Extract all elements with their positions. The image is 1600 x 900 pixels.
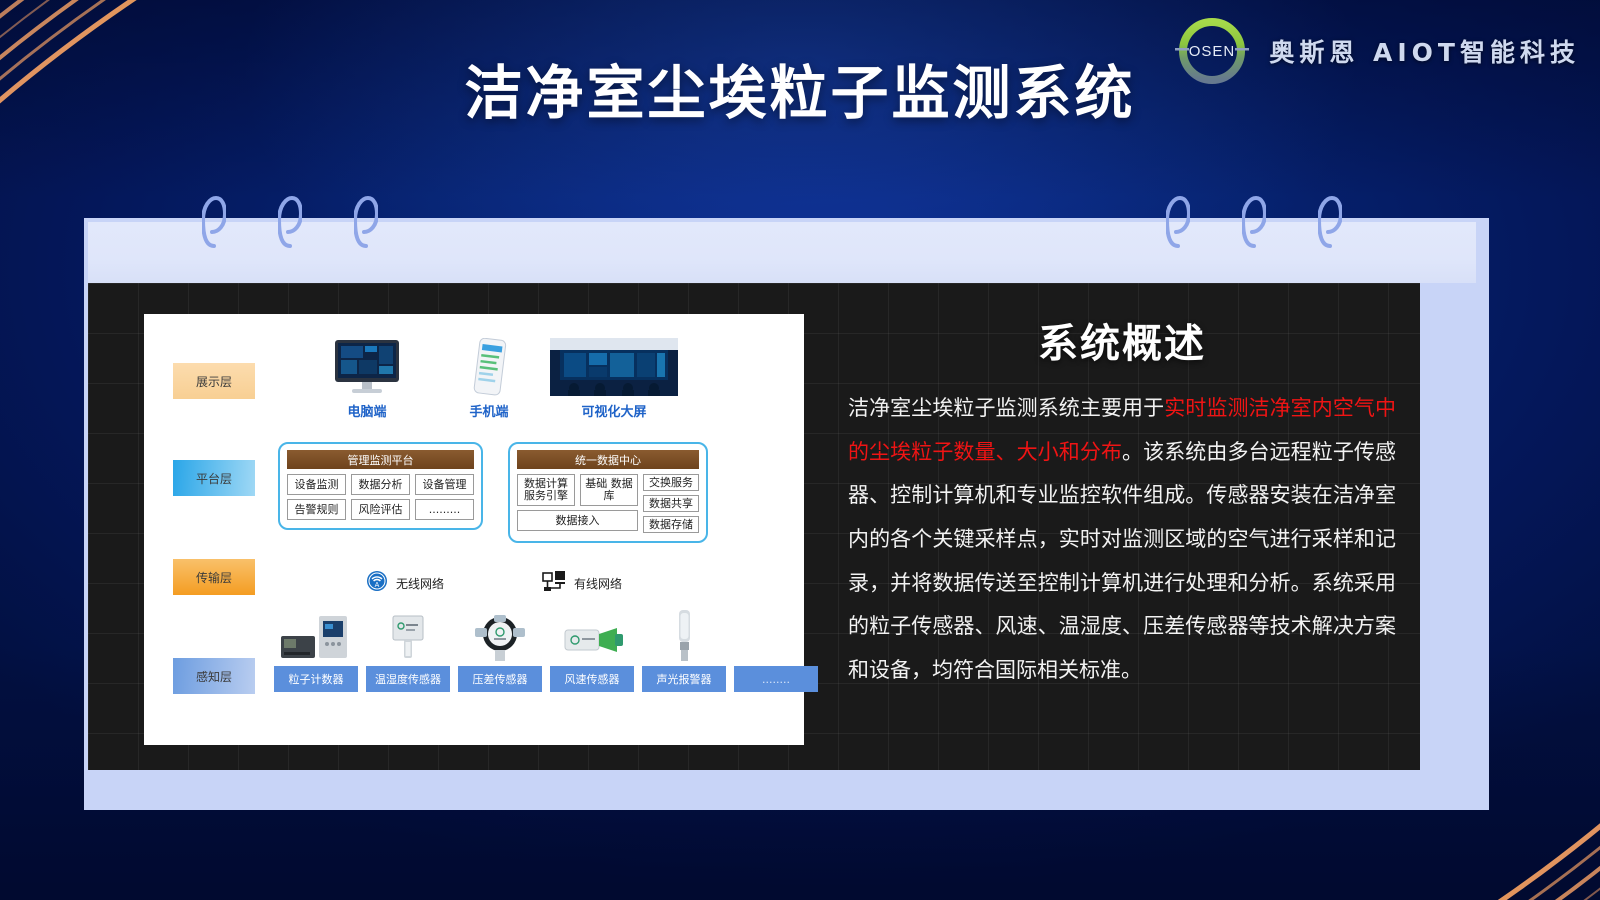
spiral-ring: [1242, 196, 1266, 248]
platform-cell[interactable]: 数据分析: [351, 474, 410, 495]
sensor-label[interactable]: 压差传感器: [458, 666, 542, 692]
sensor-column: 风速传感器: [550, 606, 634, 692]
display-item-label: 可视化大屏: [544, 401, 684, 420]
sensor-label[interactable]: 温湿度传感器: [366, 666, 450, 692]
platform-card-management: 管理监测平台 设备监测 数据分析 设备管理 告警规则 风险评估 ........…: [278, 442, 483, 530]
sensor-label[interactable]: 声光报警器: [642, 666, 726, 692]
temp-humidity-sensor-icon: [366, 606, 450, 662]
platform-card-data-center: 统一数据中心 数据计算 服务引擎 基础 数据库 数据接入 交换服务 数据共享 数…: [508, 442, 708, 543]
transport-item-wired: 有线网络: [542, 570, 622, 597]
logo-wordmark: OSEN: [1189, 43, 1236, 60]
transport-item-wireless: A 无线网络: [366, 570, 444, 597]
wireless-signal-icon: A: [366, 570, 388, 597]
notepad-card: 展示层 平台层 传输层 感知层: [84, 218, 1489, 810]
paper-body-panel: 展示层 平台层 传输层 感知层: [88, 283, 1420, 770]
platform-cell[interactable]: 设备监测: [287, 474, 346, 495]
display-item-label: 手机端: [434, 401, 544, 420]
overview-section: 系统概述 洁净室尘埃粒子监测系统主要用于实时监测洁净室内空气中的尘埃粒子数量、大…: [848, 311, 1396, 693]
platform-cell[interactable]: 设备管理: [415, 474, 474, 495]
sensor-label[interactable]: ........: [734, 666, 818, 692]
layer-tag-platform: 平台层: [173, 460, 255, 496]
video-wall-icon: [544, 334, 684, 396]
transport-item-label: 有线网络: [574, 575, 622, 592]
display-item-mobile: 手机端: [434, 334, 544, 420]
particle-counter-icon: [274, 606, 358, 662]
platform-card-title: 管理监测平台: [287, 450, 474, 469]
platform-card-title: 统一数据中心: [517, 450, 699, 469]
spiral-ring: [202, 196, 226, 248]
sensor-column: ........: [734, 606, 818, 692]
platform-cell[interactable]: .........: [415, 499, 474, 520]
overview-text-part1: 洁净室尘埃粒子监测系统主要用于: [848, 396, 1164, 420]
platform-cell[interactable]: 告警规则: [287, 499, 346, 520]
pressure-differential-sensor-icon: [458, 606, 542, 662]
display-item-label: 电脑端: [312, 401, 422, 420]
sensor-column: 声光报警器: [642, 606, 726, 692]
platform-cell[interactable]: 基础 数据库: [580, 474, 638, 506]
platform-cell[interactable]: 数据存储: [643, 516, 699, 533]
ellipsis-icon: [734, 606, 818, 662]
overview-paragraph: 洁净室尘埃粒子监测系统主要用于实时监测洁净室内空气中的尘埃粒子数量、大小和分布。…: [848, 387, 1396, 693]
overview-text-part2: 。该系统由多台远程粒子传感器、控制计算机和专业监控软件组成。传感器安装在洁净室内…: [848, 440, 1396, 682]
platform-cell[interactable]: 数据接入: [517, 510, 638, 531]
brand-logo-lockup: OSEN 奥斯恩 AIOT智能科技: [1169, 10, 1580, 92]
display-item-videowall: 可视化大屏: [544, 334, 684, 420]
sensor-column: 粒子计数器: [274, 606, 358, 692]
audible-visual-alarm-icon: [642, 606, 726, 662]
svg-text:A: A: [375, 582, 380, 589]
osen-ring-logo-icon: OSEN: [1169, 10, 1255, 92]
smartphone-icon: [434, 334, 544, 396]
display-item-desktop: 电脑端: [312, 334, 422, 420]
spiral-ring: [278, 196, 302, 248]
sensor-label[interactable]: 粒子计数器: [274, 666, 358, 692]
layer-tag-transport: 传输层: [173, 559, 255, 595]
spiral-ring: [1318, 196, 1342, 248]
brand-name: 奥斯恩 AIOT智能科技: [1269, 33, 1580, 69]
sensor-column: 压差传感器: [458, 606, 542, 692]
wind-speed-sensor-icon: [550, 606, 634, 662]
platform-cell[interactable]: 数据计算 服务引擎: [517, 474, 575, 506]
overview-heading: 系统概述: [848, 311, 1396, 369]
platform-cell[interactable]: 交换服务: [643, 474, 699, 491]
layer-tag-display: 展示层: [173, 363, 255, 399]
desktop-monitor-icon: [312, 334, 422, 396]
sensor-column: 温湿度传感器: [366, 606, 450, 692]
spiral-ring: [1166, 196, 1190, 248]
sensor-label[interactable]: 风速传感器: [550, 666, 634, 692]
transport-item-label: 无线网络: [396, 575, 444, 592]
platform-cell[interactable]: 数据共享: [643, 495, 699, 512]
architecture-diagram: 展示层 平台层 传输层 感知层: [144, 314, 804, 745]
spiral-ring: [354, 196, 378, 248]
wired-network-icon: [542, 570, 566, 597]
layer-tag-sensing: 感知层: [173, 658, 255, 694]
platform-cell[interactable]: 风险评估: [351, 499, 410, 520]
